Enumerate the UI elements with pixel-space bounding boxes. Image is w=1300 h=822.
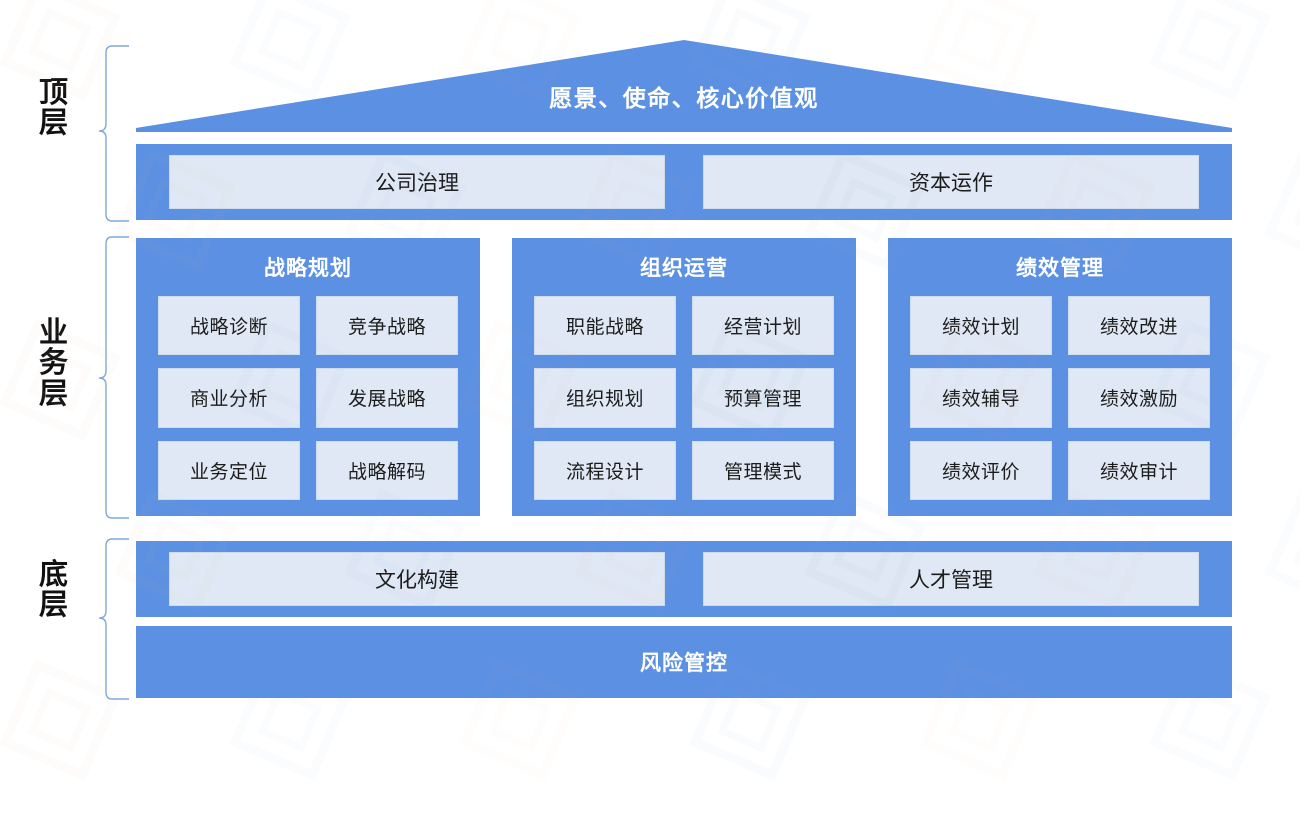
layer-label-char: 业 — [18, 318, 90, 348]
foundation-label: 风险管控 — [640, 647, 728, 677]
business-column-title: 战略规划 — [158, 252, 458, 282]
layer-label-char: 底 — [18, 560, 90, 590]
layer-label-business: 业务层 — [18, 318, 90, 409]
business-cell[interactable]: 绩效评价 — [910, 441, 1052, 500]
business-column-title: 组织运营 — [534, 252, 834, 282]
top-layer-item-governance[interactable]: 公司治理 — [169, 155, 665, 209]
business-layer: 战略规划 战略诊断 竞争战略 商业分析 发展战略 业务定位 战略解码 组织运营 … — [136, 238, 1232, 516]
business-cell[interactable]: 经营计划 — [692, 296, 834, 355]
business-column-performance: 绩效管理 绩效计划 绩效改进 绩效辅导 绩效激励 绩效评价 绩效审计 — [888, 238, 1232, 516]
business-cell[interactable]: 战略解码 — [316, 441, 458, 500]
top-layer-items: 公司治理 资本运作 — [136, 144, 1232, 220]
bracket-business — [99, 237, 129, 518]
business-column-grid: 战略诊断 竞争战略 商业分析 发展战略 业务定位 战略解码 — [158, 296, 458, 500]
business-column-grid: 职能战略 经营计划 组织规划 预算管理 流程设计 管理模式 — [534, 296, 834, 500]
business-column-grid: 绩效计划 绩效改进 绩效辅导 绩效激励 绩效评价 绩效审计 — [910, 296, 1210, 500]
business-cell[interactable]: 绩效激励 — [1068, 368, 1210, 427]
bottom-layer-band: 文化构建 人才管理 — [136, 541, 1232, 617]
layer-label-char: 层 — [18, 379, 90, 409]
layer-label-char: 务 — [18, 348, 90, 378]
business-cell[interactable]: 管理模式 — [692, 441, 834, 500]
business-cell[interactable]: 战略诊断 — [158, 296, 300, 355]
roof-pediment: 愿景、使命、核心价值观 — [136, 40, 1232, 132]
business-cell[interactable]: 绩效计划 — [910, 296, 1052, 355]
roof-title: 愿景、使命、核心价值观 — [136, 40, 1232, 132]
top-layer-band: 公司治理 资本运作 — [136, 144, 1232, 220]
business-column-title: 绩效管理 — [910, 252, 1210, 282]
bottom-layer-item-talent[interactable]: 人才管理 — [703, 552, 1199, 606]
bracket-bottom — [99, 539, 129, 699]
layer-label-char: 顶 — [18, 78, 90, 108]
business-cell[interactable]: 商业分析 — [158, 368, 300, 427]
business-cell[interactable]: 发展战略 — [316, 368, 458, 427]
layer-label-bottom: 底层 — [18, 560, 90, 621]
bottom-layer-items: 文化构建 人才管理 — [136, 541, 1232, 617]
business-column-strategy: 战略规划 战略诊断 竞争战略 商业分析 发展战略 业务定位 战略解码 — [136, 238, 480, 516]
foundation-band: 风险管控 — [136, 626, 1232, 698]
business-column-organization: 组织运营 职能战略 经营计划 组织规划 预算管理 流程设计 管理模式 — [512, 238, 856, 516]
business-cell[interactable]: 业务定位 — [158, 441, 300, 500]
bracket-top — [99, 46, 129, 221]
business-cell[interactable]: 绩效辅导 — [910, 368, 1052, 427]
business-cell[interactable]: 绩效改进 — [1068, 296, 1210, 355]
layer-label-char: 层 — [18, 108, 90, 138]
business-cell[interactable]: 职能战略 — [534, 296, 676, 355]
business-cell[interactable]: 绩效审计 — [1068, 441, 1210, 500]
business-cell[interactable]: 组织规划 — [534, 368, 676, 427]
business-cell[interactable]: 竞争战略 — [316, 296, 458, 355]
strategy-house-diagram: 顶层 业务层 底层 愿景、使命、核心价值观 公司治理 资本运作 战略规划 战略诊… — [0, 0, 1300, 742]
layer-label-top: 顶层 — [18, 78, 90, 139]
business-cell[interactable]: 流程设计 — [534, 441, 676, 500]
top-layer-item-capital[interactable]: 资本运作 — [703, 155, 1199, 209]
layer-label-char: 层 — [18, 590, 90, 620]
bottom-layer-item-culture[interactable]: 文化构建 — [169, 552, 665, 606]
business-cell[interactable]: 预算管理 — [692, 368, 834, 427]
